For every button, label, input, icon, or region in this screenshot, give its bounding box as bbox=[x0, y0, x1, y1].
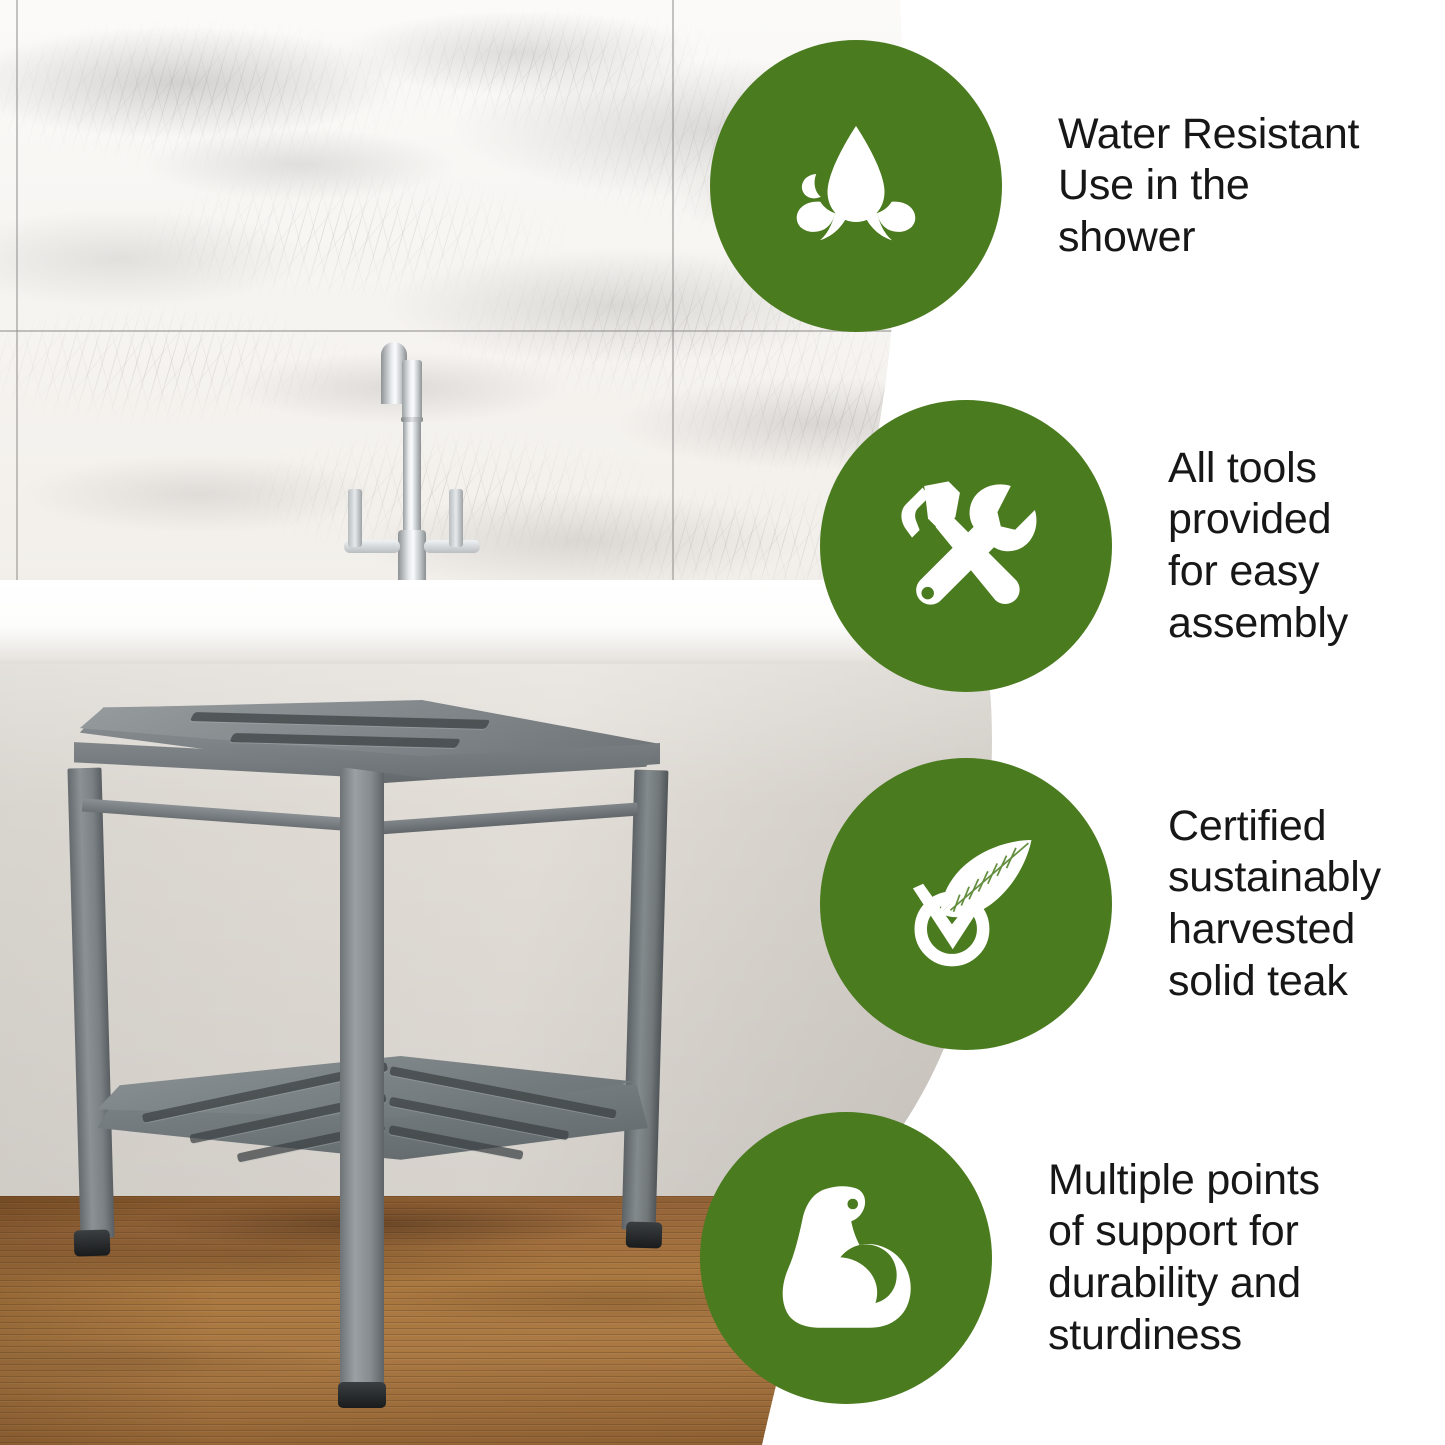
bench-foot-left bbox=[74, 1230, 111, 1257]
feature-sustainably-harvested: Certified sustainably harvested solid te… bbox=[820, 758, 1381, 1050]
feature-label: All tools provided for easy assembly bbox=[1168, 443, 1348, 649]
faucet-spout-stem bbox=[403, 400, 421, 548]
bench-foot-right bbox=[626, 1222, 663, 1249]
feature-icon-badge bbox=[710, 40, 1002, 332]
bench-leg-right bbox=[622, 770, 669, 1231]
bench-stretcher-left bbox=[82, 798, 344, 830]
feature-icon-badge bbox=[820, 758, 1112, 1050]
faucet-handle-right bbox=[449, 489, 463, 547]
feature-water-resistant: Water Resistant Use in the shower bbox=[710, 40, 1359, 332]
hammer-wrench-icon bbox=[890, 470, 1042, 622]
water-drop-splash-icon bbox=[781, 111, 931, 261]
grout-line-vertical bbox=[672, 0, 674, 588]
feature-icon-badge bbox=[820, 400, 1112, 692]
feature-multiple-support-points: Multiple points of support for durabilit… bbox=[700, 1112, 1320, 1404]
bench-leg-left bbox=[67, 768, 114, 1239]
feature-label: Multiple points of support for durabilit… bbox=[1048, 1155, 1320, 1361]
feature-tools-provided: All tools provided for easy assembly bbox=[820, 400, 1348, 692]
grout-line-vertical bbox=[16, 0, 18, 588]
faucet-handle-left bbox=[348, 489, 362, 547]
bench-stretcher-right bbox=[380, 803, 638, 835]
infographic-canvas: Water Resistant Use in the shower All to… bbox=[0, 0, 1445, 1445]
bench-foot-center bbox=[338, 1382, 386, 1408]
feature-label: Water Resistant Use in the shower bbox=[1058, 109, 1359, 264]
bench-leg-center bbox=[340, 768, 384, 1388]
leaf-check-icon bbox=[888, 826, 1044, 982]
faucet-spout-tip bbox=[402, 360, 422, 422]
feature-label: Certified sustainably harvested solid te… bbox=[1168, 801, 1381, 1007]
flexed-bicep-icon bbox=[771, 1183, 921, 1333]
feature-icon-badge bbox=[700, 1112, 992, 1404]
faucet-collar-ring bbox=[401, 417, 423, 422]
corner-shower-bench bbox=[40, 690, 680, 1410]
